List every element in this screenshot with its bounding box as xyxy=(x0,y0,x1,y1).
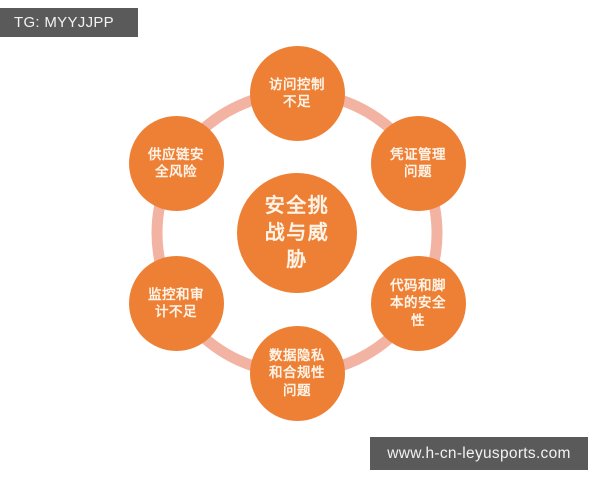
node-data-privacy-compliance[interactable]: 数据隐私 和合规性 问题 xyxy=(250,326,345,421)
node-supply-chain-risk-label: 供应链安 全风险 xyxy=(135,146,217,181)
node-supply-chain-risk[interactable]: 供应链安 全风险 xyxy=(129,116,224,211)
site-watermark-text: www.h-cn-leyusports.com xyxy=(387,445,570,463)
node-access-control[interactable]: 访问控制 不足 xyxy=(250,46,345,141)
node-code-script-security-label: 代码和脚 本的安全 性 xyxy=(377,277,459,329)
node-code-script-security[interactable]: 代码和脚 本的安全 性 xyxy=(371,256,466,351)
node-data-privacy-compliance-label: 数据隐私 和合规性 问题 xyxy=(256,347,338,399)
node-monitoring-auditing-label: 监控和审 计不足 xyxy=(135,286,217,321)
tg-watermark-text: TG: MYYJJPP xyxy=(14,14,114,31)
node-credential-management[interactable]: 凭证管理 问题 xyxy=(371,116,466,211)
site-watermark-badge: www.h-cn-leyusports.com xyxy=(370,437,588,470)
node-hub-security-challenges[interactable]: 安全挑 战与威 胁 xyxy=(237,173,357,293)
cycle-diagram: 访问控制 不足 凭证管理 问题 代码和脚 本的安全 性 数据隐私 和合规性 问题… xyxy=(0,0,600,480)
screenshot-canvas: 访问控制 不足 凭证管理 问题 代码和脚 本的安全 性 数据隐私 和合规性 问题… xyxy=(0,0,600,480)
node-credential-management-label: 凭证管理 问题 xyxy=(377,146,459,181)
node-hub-label: 安全挑 战与威 胁 xyxy=(245,193,348,274)
tg-watermark-badge: TG: MYYJJPP xyxy=(0,8,138,37)
node-monitoring-auditing[interactable]: 监控和审 计不足 xyxy=(129,256,224,351)
node-access-control-label: 访问控制 不足 xyxy=(256,76,338,111)
